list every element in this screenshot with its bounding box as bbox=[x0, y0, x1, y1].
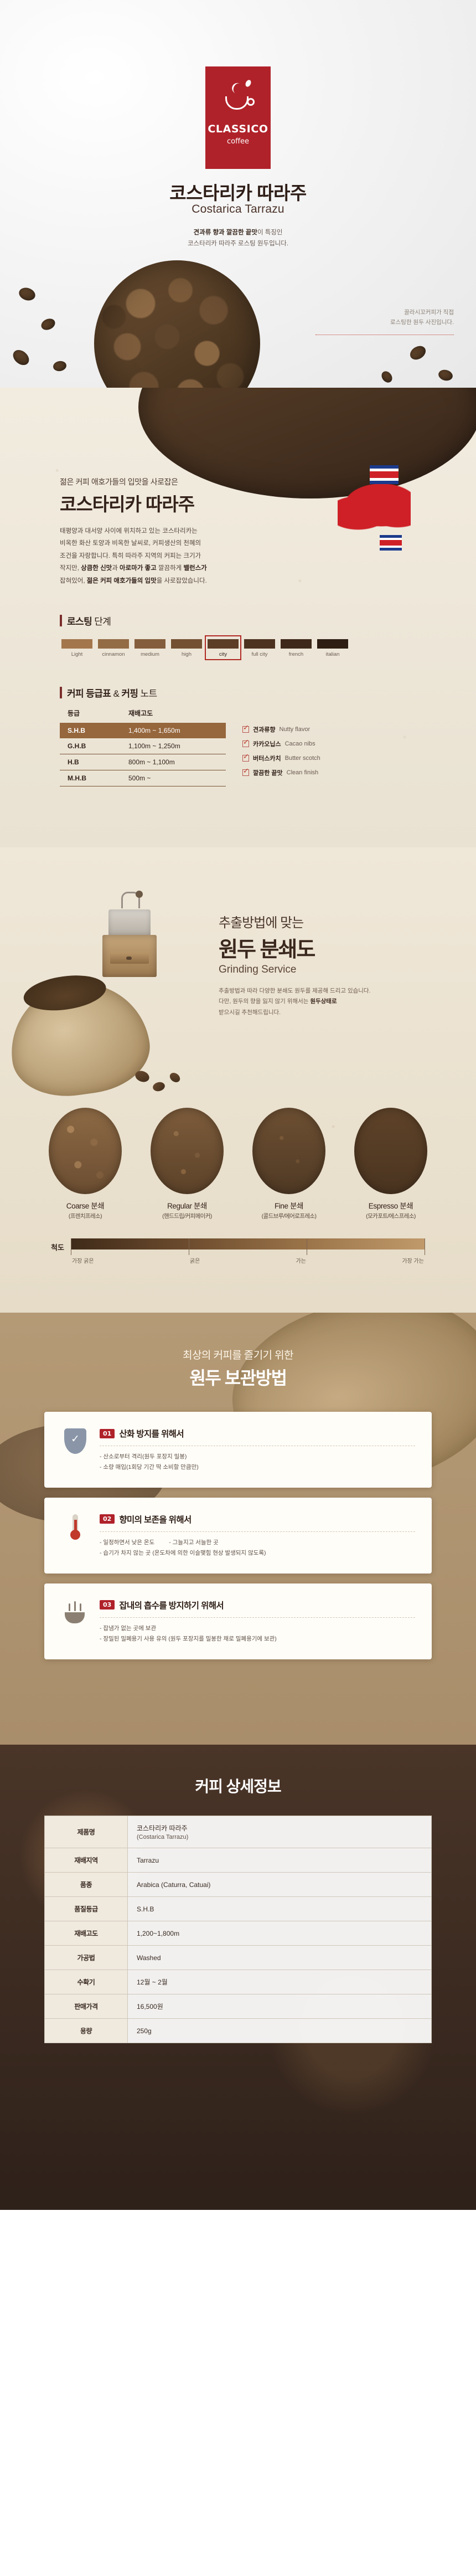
scale-tick bbox=[189, 1238, 189, 1255]
card-title: 향미의 보존을 위해서 bbox=[119, 1513, 191, 1525]
altitude-value: 1,400m ~ 1,650m bbox=[128, 727, 180, 734]
roast-label: french bbox=[281, 651, 312, 657]
table-row: 가공법 Washed bbox=[45, 1946, 432, 1970]
costa-rica-flag-map bbox=[338, 465, 411, 531]
coffee-cup-icon bbox=[224, 91, 252, 115]
storage-title: 원두 보관방법 bbox=[0, 1364, 476, 1390]
flag-icon bbox=[370, 465, 399, 484]
grind-sample-espresso: Espresso 분쇄 (모카포트/에스프레소) bbox=[350, 1108, 431, 1220]
roasting-heading: 로스팅 단계 bbox=[60, 614, 476, 628]
detail-value: S.H.B bbox=[128, 1897, 432, 1921]
table-row: 재배고도 1,200~1,800m bbox=[45, 1921, 432, 1946]
burlap-sack-illustration bbox=[3, 975, 155, 1104]
hero-desc-tail: 이 특징인 bbox=[257, 229, 283, 236]
photo-caption-line2: 로스팅한 원두 사진입니다. bbox=[315, 318, 454, 328]
intro-title: 코스타리카 따라주 bbox=[60, 490, 476, 516]
detail-value: Tarrazu bbox=[128, 1848, 432, 1873]
bullet: 산소로부터 격리(원두 포장지 밀봉) bbox=[100, 1452, 187, 1462]
flag-icon-small bbox=[380, 535, 402, 551]
grade-value: H.B bbox=[68, 758, 128, 766]
grade-value: G.H.B bbox=[68, 742, 128, 750]
note-kr: 버터스카치 bbox=[253, 754, 281, 763]
card-number: 01 bbox=[100, 1429, 115, 1438]
storage-card-2: 02 향미의 보존을 위해서 일정하면서 낮은 온도 그늘지고 서늘한 곳 습기… bbox=[44, 1498, 432, 1574]
grinding-title: 원두 분쇄도 bbox=[219, 932, 371, 963]
bullet: 잡냄가 없는 곳에 보관 bbox=[100, 1623, 156, 1634]
roast-swatch bbox=[61, 639, 92, 649]
roast-label: medium bbox=[134, 651, 165, 657]
product-detail-page: CLASSICO coffee 코스타리카 따라주 Costarica Tarr… bbox=[0, 0, 476, 2210]
page-subtitle: Costarica Tarrazu bbox=[0, 203, 476, 216]
roast-swatch bbox=[244, 639, 275, 649]
scale-tick-label: 가장 가는 bbox=[402, 1256, 424, 1264]
roast-swatch bbox=[281, 639, 312, 649]
table-row: 제품명 코스타리카 따라주 (Costarica Tarrazu) bbox=[45, 1816, 432, 1848]
grades-heading-amp: & bbox=[111, 688, 121, 699]
scale-tick-labels: 가장 굵은 굵은 가는 가장 가는 bbox=[71, 1256, 425, 1264]
table-row: G.H.B 1,100m ~ 1,250m bbox=[60, 738, 226, 754]
heading-bar-icon bbox=[60, 687, 62, 698]
detail-key: 재배지역 bbox=[45, 1848, 128, 1873]
note-en: Nutty flavor bbox=[279, 726, 310, 733]
hero-description: 견과류 향과 깔끔한 끝맛이 특징인 코스타리카 따라주 로스팅 원두입니다. bbox=[0, 227, 476, 249]
grade-table: 등급 재배고도 S.H.B 1,400m ~ 1,650m G.H.B 1,10… bbox=[60, 708, 226, 786]
storage-kicker: 최상의 커피를 즐기기 위한 bbox=[0, 1347, 476, 1362]
check-icon bbox=[242, 726, 249, 733]
roast-label: full city bbox=[244, 651, 275, 657]
detail-value-sub: (Costarica Tarrazu) bbox=[137, 1834, 422, 1840]
bullet: 습기가 차지 않는 곳 (온도차에 의한 이슬맺힘 현상 발생되지 않도록) bbox=[100, 1548, 266, 1559]
steam-icon bbox=[230, 81, 246, 96]
grades-heading: 커피 등급표 & 커핑 노트 bbox=[60, 686, 476, 700]
heading-bar-icon bbox=[60, 615, 62, 626]
roast-level-city-selected[interactable]: city bbox=[206, 636, 240, 659]
scale-tick-label: 굵은 bbox=[190, 1256, 200, 1264]
divider bbox=[100, 1446, 415, 1446]
list-item: 버터스카치 Butter scotch bbox=[242, 754, 320, 763]
note-kr: 카카오닙스 bbox=[253, 739, 281, 748]
roasting-heading-bold: 로스팅 bbox=[67, 616, 92, 627]
roast-swatch bbox=[98, 639, 129, 649]
scale-tick-label: 가장 굵은 bbox=[72, 1256, 94, 1264]
detail-value: 코스타리카 따라주 (Costarica Tarrazu) bbox=[128, 1816, 432, 1848]
roast-label: italian bbox=[317, 651, 348, 657]
divider bbox=[100, 1617, 415, 1618]
detail-value: 250g bbox=[128, 2019, 432, 2043]
check-icon bbox=[242, 755, 249, 762]
grades-heading-bold1: 커피 등급표 bbox=[67, 688, 111, 699]
roasting-heading-rest: 단계 bbox=[92, 616, 111, 627]
grind-samples: Coarse 분쇄 (프렌치프레소) Regular 분쇄 (핸드드립/커피메이… bbox=[0, 1108, 476, 1220]
scale-tick bbox=[71, 1238, 71, 1255]
detail-value: 12월 ~ 2월 bbox=[128, 1970, 432, 1994]
bullet: 그늘지고 서늘한 곳 bbox=[169, 1538, 219, 1548]
bullet: 장밀된 밀폐용기 사용 유의 (원두 포장지를 밀봉한 채로 밀폐용기에 보관) bbox=[100, 1634, 277, 1644]
grades-heading-rest: 노트 bbox=[138, 688, 157, 699]
note-en: Cacao nibs bbox=[285, 741, 315, 747]
grinding-subtitle: Grinding Service bbox=[219, 964, 371, 976]
scale-gradient-bar bbox=[71, 1238, 425, 1250]
note-kr: 깔끔한 끝맛 bbox=[253, 768, 283, 777]
roast-label: cinnamon bbox=[98, 651, 129, 657]
roast-swatch bbox=[208, 639, 239, 649]
detail-title: 커피 상세정보 bbox=[0, 1745, 476, 1797]
grind-sample-regular: Regular 분쇄 (핸드드립/커피메이커) bbox=[147, 1108, 227, 1220]
grinding-section: 추출방법에 맞는 원두 분쇄도 Grinding Service 추출방법과 따… bbox=[0, 847, 476, 1313]
intro-body: 태평양과 대서양 사이에 위치하고 있는 코스타리카는 비옥한 화산 토양과 비… bbox=[60, 525, 259, 587]
altitude-value: 800m ~ 1,100m bbox=[128, 758, 175, 766]
roast-label: high bbox=[171, 651, 202, 657]
intro-body-line1: 태평양과 대서양 사이에 위치하고 있는 코스타리카는 bbox=[60, 525, 259, 537]
detail-table: 제품명 코스타리카 따라주 (Costarica Tarrazu) 재배지역 T… bbox=[44, 1816, 432, 2043]
grinding-para-line2a: 다만, 원두의 향을 잃지 않기 위해서는 bbox=[219, 998, 310, 1005]
hero-section: CLASSICO coffee 코스타리카 따라주 Costarica Tarr… bbox=[0, 0, 476, 388]
grind-sub: (핸드드립/커피메이커) bbox=[147, 1212, 227, 1220]
detail-info-section: 커피 상세정보 제품명 코스타리카 따라주 (Costarica Tarrazu… bbox=[0, 1745, 476, 2210]
roast-label: city bbox=[208, 651, 239, 657]
card-title: 산화 방지를 위해서 bbox=[119, 1427, 184, 1439]
grinding-para-line3: 받으시길 추천해드립니다. bbox=[219, 1007, 371, 1018]
card-bullets: 잡냄가 없는 곳에 보관 장밀된 밀폐용기 사용 유의 (원두 포장지를 밀봉한… bbox=[100, 1623, 415, 1645]
table-row: 품종 Arabica (Caturra, Catuai) bbox=[45, 1873, 432, 1897]
table-row: M.H.B 500m ~ bbox=[60, 770, 226, 786]
detail-key: 제품명 bbox=[45, 1816, 128, 1848]
decor-bean bbox=[53, 360, 68, 372]
grind-texture bbox=[354, 1108, 427, 1194]
storage-card-1: 01 산화 방지를 위해서 산소로부터 격리(원두 포장지 밀봉) 소량 매입(… bbox=[44, 1412, 432, 1488]
intro-body-line5b: 젊은 커피 애호가들의 입맛 bbox=[87, 578, 157, 584]
card-bullets: 산소로부터 격리(원두 포장지 밀봉) 소량 매입(1회당 기간 딱 소비할 만… bbox=[100, 1452, 415, 1473]
detail-value: 16,500원 bbox=[128, 1994, 432, 2019]
roast-level-french[interactable]: french bbox=[279, 636, 313, 659]
decor-bean bbox=[10, 347, 32, 368]
hero-desc-bold: 견과류 향과 깔끔한 끝맛 bbox=[194, 229, 257, 236]
roast-swatch bbox=[317, 639, 348, 649]
decor-bean bbox=[437, 368, 454, 382]
altitude-value: 500m ~ bbox=[128, 774, 151, 782]
roast-level-cinnamon[interactable]: cinnamon bbox=[96, 636, 131, 659]
decor-bean bbox=[152, 1081, 165, 1093]
detail-key: 품종 bbox=[45, 1873, 128, 1897]
table-row: S.H.B 1,400m ~ 1,650m bbox=[60, 723, 226, 738]
intro-body-line5c: 을 사로잡았습니다. bbox=[157, 578, 207, 584]
list-item: 견과류향 Nutty flavor bbox=[242, 725, 320, 734]
divider bbox=[100, 1531, 415, 1532]
detail-key: 용량 bbox=[45, 2019, 128, 2043]
intro-body-line4e: 깔끔하게 bbox=[157, 565, 184, 572]
intro-body-line3: 조건을 자랑합니다. 특히 따라주 지역의 커피는 크기가 bbox=[60, 550, 259, 562]
detail-key: 수확기 bbox=[45, 1970, 128, 1994]
altitude-value: 1,100m ~ 1,250m bbox=[128, 742, 180, 750]
grinding-heading: 추출방법에 맞는 원두 분쇄도 Grinding Service 추출방법과 따… bbox=[219, 912, 371, 1018]
roast-label: Light bbox=[61, 651, 92, 657]
detail-value: 1,200~1,800m bbox=[128, 1921, 432, 1946]
detail-value: Arabica (Caturra, Catuai) bbox=[128, 1873, 432, 1897]
list-item: 깔끔한 끝맛 Clean finish bbox=[242, 768, 320, 777]
roast-level-medium[interactable]: medium bbox=[133, 636, 167, 659]
country-map-icon bbox=[338, 484, 411, 531]
grind-sub: (모카포트/에스프레소) bbox=[350, 1212, 431, 1220]
check-icon bbox=[242, 741, 249, 747]
roast-level-italian[interactable]: italian bbox=[315, 636, 350, 659]
note-kr: 견과류향 bbox=[253, 725, 275, 734]
decor-bean bbox=[380, 369, 395, 385]
bullet: 일정하면서 낮은 온도 bbox=[100, 1538, 154, 1548]
list-item: 카카오닙스 Cacao nibs bbox=[242, 739, 320, 748]
roast-level-full-city[interactable]: full city bbox=[242, 636, 277, 659]
grind-title: Regular 분쇄 bbox=[147, 1200, 227, 1211]
note-en: Clean finish bbox=[287, 769, 318, 776]
detail-key: 재배고도 bbox=[45, 1921, 128, 1946]
hero-desc-line2: 코스타리카 따라주 로스팅 원두입니다. bbox=[0, 238, 476, 249]
grind-texture bbox=[252, 1108, 325, 1194]
grade-table-header: 등급 재배고도 bbox=[60, 708, 226, 723]
grind-sample-coarse: Coarse 분쇄 (프렌치프레소) bbox=[45, 1108, 126, 1220]
decor-bean bbox=[17, 286, 37, 302]
storage-heading: 최상의 커피를 즐기기 위한 원두 보관방법 bbox=[0, 1313, 476, 1390]
card-number: 03 bbox=[100, 1600, 115, 1610]
intro-body-line4b: 상큼한 신맛 bbox=[81, 565, 112, 572]
card-bullets: 일정하면서 낮은 온도 그늘지고 서늘한 곳 습기가 차지 않는 곳 (온도차에… bbox=[100, 1538, 415, 1559]
table-row: 품질등급 S.H.B bbox=[45, 1897, 432, 1921]
intro-kicker: 젊은 커피 애호가들의 입맛을 사로잡은 bbox=[60, 476, 476, 487]
roast-level-high[interactable]: high bbox=[169, 636, 204, 659]
table-row: 판매가격 16,500원 bbox=[45, 1994, 432, 2019]
table-row: 용량 250g bbox=[45, 2019, 432, 2043]
grind-texture bbox=[49, 1108, 122, 1194]
card-number: 02 bbox=[100, 1514, 115, 1524]
intro-body-line4c: 과 bbox=[112, 565, 120, 572]
col-grade: 등급 bbox=[68, 708, 128, 718]
steam-cup-icon bbox=[61, 1598, 90, 1628]
intro-body-line2: 비옥한 화산 토양과 비옥한 날씨로, 커피생산의 천혜의 bbox=[60, 537, 259, 549]
grind-sample-fine: Fine 분쇄 (콜드브루/에어로프레소) bbox=[249, 1108, 329, 1220]
shield-icon bbox=[61, 1426, 90, 1456]
storage-section: 최상의 커피를 즐기기 위한 원두 보관방법 01 산화 방지를 위해서 산소로… bbox=[0, 1313, 476, 1745]
intro-body-line4d: 아로마가 좋고 bbox=[120, 565, 157, 572]
caption-divider bbox=[315, 335, 454, 335]
scale-tick-label: 가는 bbox=[296, 1256, 306, 1264]
grinding-paragraph: 추출방법과 따라 다양한 분쇄도 원두를 제공해 드리고 있습니다. 다만, 원… bbox=[219, 986, 371, 1018]
decor-bean bbox=[39, 317, 56, 332]
roast-level-light[interactable]: Light bbox=[60, 636, 94, 659]
brand-name: CLASSICO bbox=[208, 123, 268, 135]
brand-subtitle: coffee bbox=[227, 137, 249, 146]
grinding-para-line2b: 원두상태로 bbox=[310, 998, 337, 1005]
grind-texture bbox=[151, 1108, 224, 1194]
photo-caption-line1: 끌라시꼬커피가 직접 bbox=[315, 308, 454, 318]
coffee-grinder-icon bbox=[97, 891, 162, 984]
decor-bean bbox=[407, 343, 428, 363]
decor-bean bbox=[168, 1071, 182, 1084]
storage-card-3: 03 잡내의 흡수를 방지하기 위해서 잡냄가 없는 곳에 보관 장밀된 밀폐용… bbox=[44, 1583, 432, 1659]
photo-caption: 끌라시꼬커피가 직접 로스팅한 원두 사진입니다. bbox=[315, 308, 454, 328]
table-row: 재배지역 Tarrazu bbox=[45, 1848, 432, 1873]
detail-key: 품질등급 bbox=[45, 1897, 128, 1921]
page-title: 코스타리카 따라주 bbox=[0, 178, 476, 205]
grade-value: S.H.B bbox=[68, 727, 128, 734]
card-title: 잡내의 흡수를 방지하기 위해서 bbox=[119, 1599, 224, 1611]
note-en: Butter scotch bbox=[285, 755, 320, 762]
intro-body-line4f: 밸런스가 bbox=[183, 565, 206, 572]
col-altitude: 재배고도 bbox=[128, 708, 153, 718]
table-row: 수확기 12월 ~ 2월 bbox=[45, 1970, 432, 1994]
brand-logo: CLASSICO coffee bbox=[205, 66, 271, 169]
grind-title: Espresso 분쇄 bbox=[350, 1200, 431, 1211]
detail-value: Washed bbox=[128, 1946, 432, 1970]
detail-key: 가공법 bbox=[45, 1946, 128, 1970]
grade-value: M.H.B bbox=[68, 774, 128, 782]
grind-sub: (콜드브루/에어로프레소) bbox=[249, 1212, 329, 1220]
detail-value-main: 코스타리카 따라주 bbox=[137, 1824, 188, 1832]
check-icon bbox=[242, 769, 249, 776]
roast-level-scale: Light cinnamon medium high city bbox=[60, 636, 476, 659]
bullet: 소량 매입(1회당 기간 딱 소비할 만큼만) bbox=[100, 1462, 199, 1473]
grind-sub: (프렌치프레소) bbox=[45, 1212, 126, 1220]
grinding-kicker: 추출방법에 맞는 bbox=[219, 912, 371, 931]
scale-tick bbox=[425, 1238, 425, 1255]
intro-body-line4a: 작지만, bbox=[60, 565, 81, 572]
detail-key: 판매가격 bbox=[45, 1994, 128, 2019]
grind-title: Coarse 분쇄 bbox=[45, 1200, 126, 1211]
roast-swatch bbox=[134, 639, 165, 649]
roast-swatch bbox=[171, 639, 202, 649]
table-row: H.B 800m ~ 1,100m bbox=[60, 754, 226, 770]
scale-tick bbox=[307, 1238, 307, 1255]
grind-title: Fine 분쇄 bbox=[249, 1200, 329, 1211]
scale-label: 척도 bbox=[51, 1238, 64, 1252]
intro-body-line5a: 잡혀있어, bbox=[60, 578, 87, 584]
roasted-beans-photo bbox=[94, 260, 260, 388]
origin-info-section: 젊은 커피 애호가들의 입맛을 사로잡은 코스타리카 따라주 bbox=[0, 388, 476, 847]
cupping-notes: 견과류향 Nutty flavor 카카오닙스 Cacao nibs 버터스카치… bbox=[242, 708, 320, 786]
thermometer-icon bbox=[61, 1512, 90, 1542]
grind-scale: 척도 가장 굵은 굵은 가는 가장 가는 bbox=[0, 1238, 476, 1264]
grades-heading-bold2: 커핑 bbox=[121, 688, 138, 699]
grinding-para-line1: 추출방법과 따라 다양한 분쇄도 원두를 제공해 드리고 있습니다. bbox=[219, 986, 371, 996]
